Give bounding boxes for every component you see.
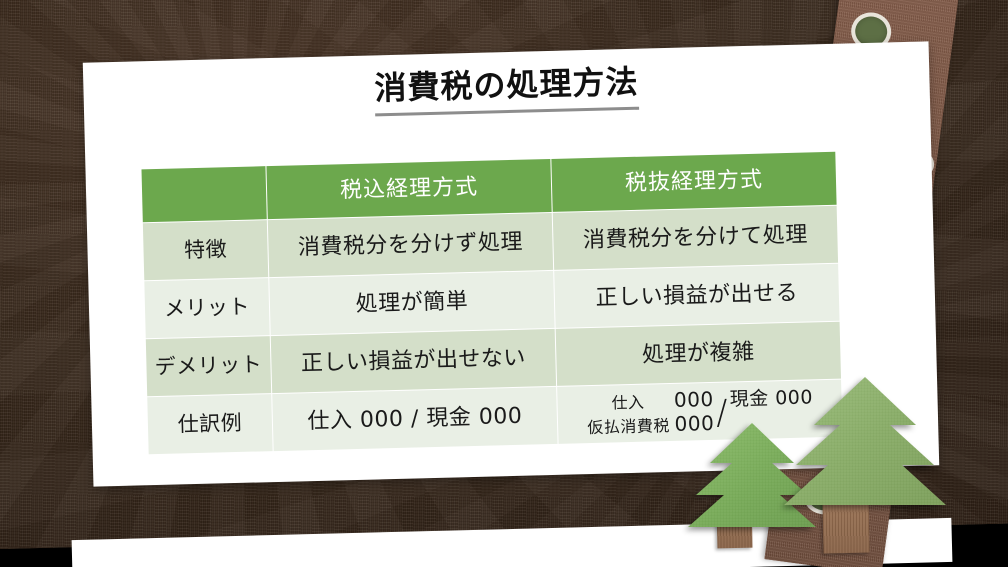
journal-debit-amount-1: 000 [674,388,714,413]
page-title: 消費税の処理方法 [374,63,639,117]
tree-large-shape [772,377,958,512]
cell-merit-tax-included: 処理が簡単 [269,271,554,335]
cell-journal-tax-included: 仕入 000 / 現金 000 [272,387,557,451]
cell-feature-tax-included: 消費税分を分けず処理 [268,213,553,277]
row-label-merit: メリット [144,278,269,338]
table-body: 特徴 消費税分を分けず処理 消費税分を分けて処理 メリット 処理が簡単 正しい損… [143,206,843,454]
slide-stage: 消費税の処理方法 税込経理方式 税抜経理方式 特徴 消費税分を分けず処理 消費税… [0,0,1008,567]
table-header-corner [141,166,266,222]
table-header-tax-included: 税込経理方式 [266,159,551,219]
comparison-table: 税込経理方式 税抜経理方式 特徴 消費税分を分けず処理 消費税分を分けて処理 メ… [140,151,843,456]
row-label-demerit: デメリット [146,336,271,396]
cell-merit-tax-excluded: 正しい損益が出せる [554,264,839,328]
table-header-tax-excluded: 税抜経理方式 [551,152,836,212]
row-label-feature: 特徴 [143,220,268,280]
cell-feature-tax-excluded: 消費税分を分けて処理 [553,206,838,270]
tree-large [772,377,958,512]
journal-debit-account-2: 仮払消費税 [586,417,670,438]
journal-debit-account-1: 仕入 [586,393,670,414]
page-title-container: 消費税の処理方法 [83,55,930,123]
row-label-journal-entry: 仕訳例 [147,394,272,454]
cell-demerit-tax-included: 正しい損益が出せない [271,329,556,393]
